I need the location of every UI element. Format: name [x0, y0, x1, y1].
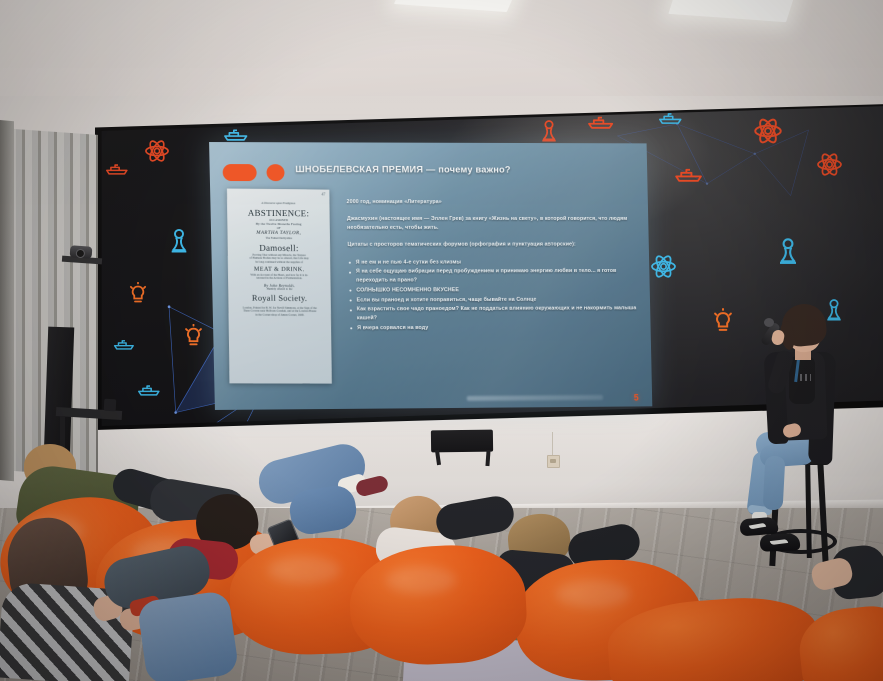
slide-body: 2000 год, номинация «Литература» Джасмух… [346, 198, 638, 334]
book-line-damosell: Damosell: [231, 242, 328, 253]
presentation-slide[interactable]: ШНОБЕЛЕВСКАЯ ПРЕМИЯ — почему важно? 47 A… [209, 142, 652, 410]
book-line-discourse: A Discourse upon Prodigious [230, 202, 326, 207]
ship-icon [223, 125, 251, 142]
lightbulb-icon [713, 308, 733, 335]
slide-bullet-list: Я не ем и не пью 4-е сутки без клизмы Я … [348, 258, 638, 333]
audience-person-jeans [137, 590, 240, 681]
av-device-box [104, 399, 117, 412]
slide-paragraph-year: 2000 год, номинация «Литература» [346, 198, 635, 206]
ship-icon [137, 381, 163, 397]
slide-bullet: Я не ем и не пью 4-е сутки без клизмы [348, 258, 637, 267]
ship-icon [105, 160, 131, 176]
ship-icon [674, 164, 706, 183]
lightbulb-icon [129, 282, 147, 306]
slide-paragraph-laureate: Джасмухин (настоящее имя — Эллен Грев) з… [347, 215, 636, 232]
ceiling-light-panel [668, 0, 795, 22]
slide-bullet: Как взрастить свое чадо праноедом? Как н… [349, 305, 638, 323]
chess-pawn-icon [824, 298, 844, 324]
ship-icon [113, 336, 137, 351]
book-page-number: 47 [321, 192, 325, 197]
chess-pawn-icon [776, 237, 800, 268]
book-line-royall-society: Royall Society. [231, 293, 328, 302]
slide-bullet: Я на себе ощущаю вибрации перед пробужде… [348, 267, 637, 284]
atom-icon [144, 138, 170, 164]
column-speaker [44, 327, 75, 458]
sneaker-stripe [770, 539, 788, 545]
book-line-humbly: Humbly offered to the [231, 287, 327, 291]
sneaker-stripe [749, 523, 766, 530]
book-line-abstinence: ABSTINENCE: [230, 207, 327, 218]
logo-dot-shape [266, 164, 284, 181]
lightbulb-icon [184, 324, 203, 349]
atom-icon [816, 151, 843, 178]
book-line-famed: The Famed Derbyshire [231, 237, 327, 241]
ceiling-light-panel [394, 0, 518, 12]
logo-bar-shape [223, 164, 257, 181]
slide-bullet: Если вы праноед и хотите поправиться, ча… [349, 295, 638, 304]
bean-bag-highlight [268, 556, 340, 584]
book-title-page-image: 47 A Discourse upon Prodigious ABSTINENC… [227, 189, 332, 384]
ptz-camera-icon[interactable] [70, 245, 93, 259]
book-line-account-2: teressed in the Actions of Fermentation. [231, 277, 327, 281]
slide-bullet: СОЛНЫШКО НЕСОМНЕННО ВКУСНЕЕ [348, 285, 637, 294]
slide-page-number: 5 [634, 393, 639, 403]
presenter-sneaker [760, 533, 801, 551]
slide-paragraph-quotes-intro: Цитаты с просторов тематических форумов … [347, 241, 636, 250]
slide-bullet: Я вчера сорвался на воду [349, 323, 638, 333]
book-line-proving-3: be long continued without the supplies o… [231, 261, 327, 265]
partition-edge [0, 120, 14, 481]
atom-icon [650, 253, 677, 280]
presenter-shin-back [763, 456, 786, 511]
microphone-head [764, 318, 774, 327]
power-cable [552, 432, 553, 456]
wall-speaker [431, 430, 493, 453]
chess-pawn-icon [168, 228, 190, 256]
lecture-hall-scene: ШНОБЕЛЕВСКАЯ ПРЕМИЯ — почему важно? 47 A… [0, 0, 883, 681]
chess-pawn-icon [539, 119, 559, 145]
power-socket-icon[interactable] [547, 455, 560, 468]
book-line-meat-drink: MEAT & DRINK. [231, 265, 327, 273]
slide-title: ШНОБЕЛЕВСКАЯ ПРЕМИЯ — почему важно? [295, 163, 618, 175]
atom-icon [753, 116, 783, 146]
book-line-of: OF [230, 226, 326, 230]
book-line-imprint-3: in the Corner-shop of Amen-Corner, 1669. [232, 313, 328, 317]
bean-bag-highlight [556, 580, 630, 608]
bean-bag-highlight [386, 566, 456, 594]
